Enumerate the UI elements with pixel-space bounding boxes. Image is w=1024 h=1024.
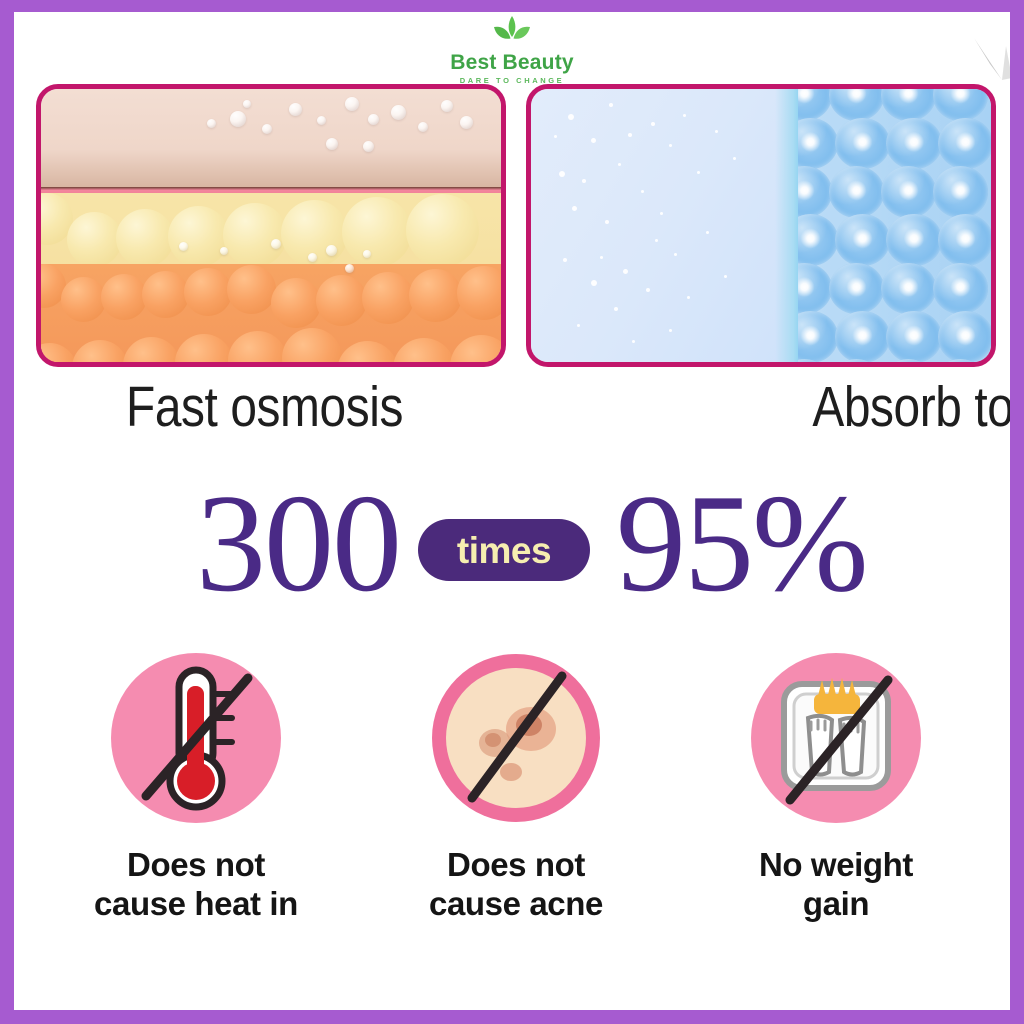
benefit-label-line2: cause heat in bbox=[94, 885, 298, 922]
no-weight-gain-icon bbox=[748, 650, 924, 826]
benefits-row: Does not cause heat in bbox=[36, 650, 996, 924]
headline-row: Fast osmosis Absorb to bbox=[36, 374, 996, 444]
bubble-matrix bbox=[798, 89, 991, 362]
infographic-poster: Best Beauty DARE TO CHANGE bbox=[0, 0, 1024, 1024]
brand-name: Best Beauty bbox=[14, 52, 1010, 73]
benefit-label-no-weight-gain: No weight gain bbox=[686, 846, 986, 924]
benefit-label-no-acne: Does not cause acne bbox=[366, 846, 666, 924]
benefit-label-line1: Does not bbox=[127, 846, 265, 883]
headline-fast-osmosis: Fast osmosis bbox=[126, 374, 403, 440]
poster-content: Best Beauty DARE TO CHANGE bbox=[14, 12, 1010, 1010]
orange-cell-layer bbox=[36, 264, 506, 367]
stat-value-300: 300 bbox=[196, 474, 400, 614]
leaf-icon bbox=[489, 14, 535, 50]
times-badge: times bbox=[418, 519, 590, 581]
skin-surface-layer bbox=[41, 89, 501, 187]
benefit-label-line1: Does not bbox=[447, 846, 585, 883]
benefit-no-heat: Does not cause heat in bbox=[46, 650, 346, 924]
no-acne-icon bbox=[428, 650, 604, 826]
benefit-label-line2: cause acne bbox=[429, 885, 603, 922]
stat-value-95: 95% bbox=[616, 474, 867, 614]
benefit-label-line2: gain bbox=[803, 885, 869, 922]
panel-skin-cross-section bbox=[36, 84, 506, 367]
no-heat-icon bbox=[108, 650, 284, 826]
panel-row bbox=[36, 84, 996, 367]
benefit-no-weight-gain: No weight gain bbox=[686, 650, 986, 924]
brand-logo: Best Beauty DARE TO CHANGE bbox=[14, 14, 1010, 85]
times-badge-label: times bbox=[457, 532, 551, 569]
panel-absorption-bubbles bbox=[526, 84, 996, 367]
blue-fluid-field bbox=[531, 89, 793, 362]
headline-absorb-to: Absorb to bbox=[812, 374, 1010, 440]
bubble-grid bbox=[798, 89, 991, 362]
stats-row: 300 times 95% bbox=[36, 464, 996, 619]
benefit-label-line1: No weight bbox=[759, 846, 913, 883]
benefit-no-acne: Does not cause acne bbox=[366, 650, 666, 924]
benefit-label-no-heat: Does not cause heat in bbox=[46, 846, 346, 924]
